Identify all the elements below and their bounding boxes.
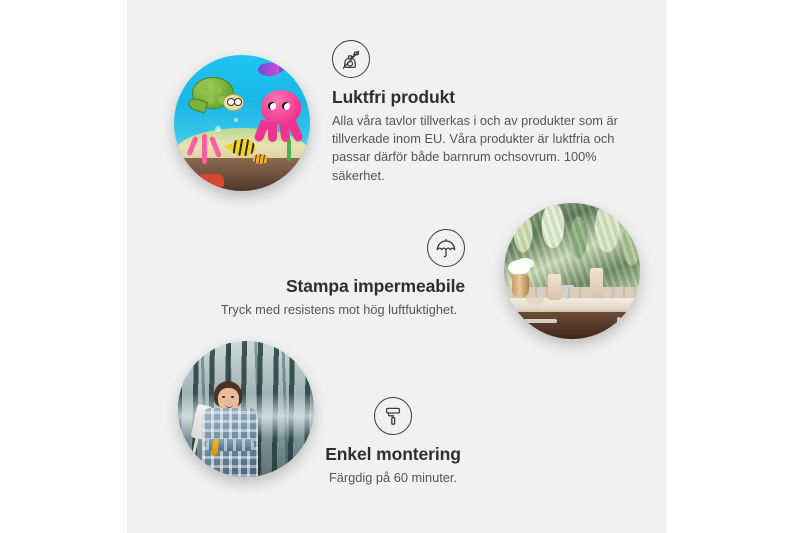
feature-3-icon-wrap bbox=[300, 397, 486, 435]
product-photo-sea[interactable] bbox=[174, 55, 310, 191]
feature-2-body: Tryck med resistens mot hög luftfuktighe… bbox=[213, 301, 465, 319]
coral-icon bbox=[188, 130, 222, 164]
small-fish-icon bbox=[253, 154, 268, 164]
paint-roller-icon bbox=[374, 397, 412, 435]
feature-3-title: Enkel montering bbox=[300, 444, 486, 464]
woman-painter bbox=[200, 381, 262, 477]
product-photo-forest[interactable] bbox=[178, 341, 314, 477]
product-photo-bathroom[interactable] bbox=[504, 203, 640, 339]
wooden-vanity bbox=[504, 312, 640, 339]
no-fragrance-spray-icon bbox=[332, 40, 370, 78]
vase-icon bbox=[512, 274, 529, 298]
yellow-fish-icon bbox=[231, 139, 255, 156]
feature-3-body: Färgdig på 60 minuter. bbox=[300, 469, 486, 487]
feature-2-title: Stampa impermeabile bbox=[213, 276, 465, 296]
bubble-icon bbox=[234, 118, 238, 122]
screenshot-root: Luktfri produkt Alla våra tavlor tillver… bbox=[0, 0, 800, 533]
feature-1-body: Alla våra tavlor tillverkas i och av pro… bbox=[332, 112, 632, 185]
feature-montering: Enkel montering Färgdig på 60 minuter. bbox=[300, 397, 486, 487]
turtle-icon bbox=[186, 77, 240, 115]
countertop bbox=[504, 298, 640, 312]
sea-scene bbox=[174, 55, 310, 191]
feature-1-title: Luktfri produkt bbox=[332, 87, 632, 107]
faucet-icon bbox=[565, 285, 568, 299]
forest-scene bbox=[178, 341, 314, 477]
bathroom-scene bbox=[504, 203, 640, 339]
purple-fish-icon bbox=[258, 63, 280, 76]
feature-1-icon-wrap bbox=[332, 40, 632, 78]
feature-impermeabile: Stampa impermeabile Tryck med resistens … bbox=[213, 229, 465, 319]
octopus-icon bbox=[255, 90, 307, 142]
towel-icon bbox=[590, 268, 603, 298]
umbrella-icon bbox=[427, 229, 465, 267]
feature-luktfri: Luktfri produkt Alla våra tavlor tillver… bbox=[332, 40, 632, 185]
seaweed-icon bbox=[287, 139, 291, 161]
feature-2-icon-wrap bbox=[213, 229, 465, 267]
